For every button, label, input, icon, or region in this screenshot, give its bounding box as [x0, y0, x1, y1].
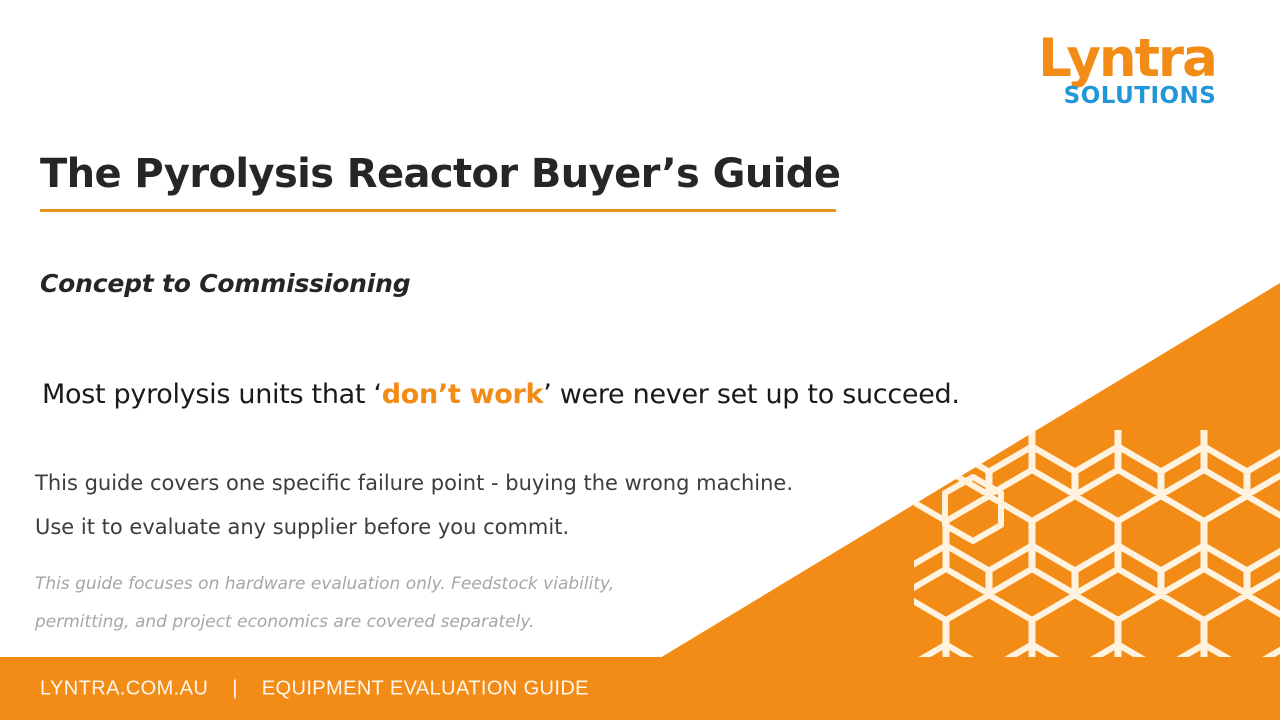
title-underline-rule	[40, 209, 836, 212]
body-copy-line: Use it to evaluate any supplier before y…	[35, 505, 793, 549]
footer-site: LYNTRA.COM.AU	[40, 677, 208, 699]
logo-wordmark: Lyntra	[1032, 34, 1222, 84]
page-title: The Pyrolysis Reactor Buyer’s Guide	[40, 151, 840, 197]
statement-text-after: ’ were never set up to succeed.	[543, 379, 959, 410]
body-copy: This guide covers one specific failure p…	[35, 461, 793, 549]
statement-highlight: don’t work	[382, 379, 543, 410]
body-copy-line: This guide covers one specific failure p…	[35, 461, 793, 505]
statement-text-before: Most pyrolysis units that ‘	[42, 379, 382, 410]
honeycomb-grid-extended	[914, 430, 1280, 658]
honeycomb-grid	[1000, 430, 1280, 658]
page-subtitle: Concept to Commissioning	[40, 269, 410, 298]
slide-canvas: Lyntra SOLUTIONS The Pyrolysis Reactor B…	[0, 0, 1280, 720]
disclaimer-note: This guide focuses on hardware evaluatio…	[35, 565, 614, 641]
footer-separator: |	[232, 677, 238, 700]
headline-statement: Most pyrolysis units that ‘don’t work’ w…	[42, 379, 960, 410]
footer-text: LYNTRA.COM.AU|EQUIPMENT EVALUATION GUIDE	[40, 677, 589, 700]
disclaimer-line: This guide focuses on hardware evaluatio…	[35, 565, 614, 603]
disclaimer-line: permitting, and project economics are co…	[35, 603, 614, 641]
footer-label: EQUIPMENT EVALUATION GUIDE	[262, 677, 589, 699]
brand-logo: Lyntra SOLUTIONS	[1032, 34, 1222, 108]
logo-tagline: SOLUTIONS	[1058, 85, 1222, 108]
honeycomb-solo-hexagon	[945, 477, 1001, 541]
footer-bar: LYNTRA.COM.AU|EQUIPMENT EVALUATION GUIDE	[0, 657, 1280, 720]
